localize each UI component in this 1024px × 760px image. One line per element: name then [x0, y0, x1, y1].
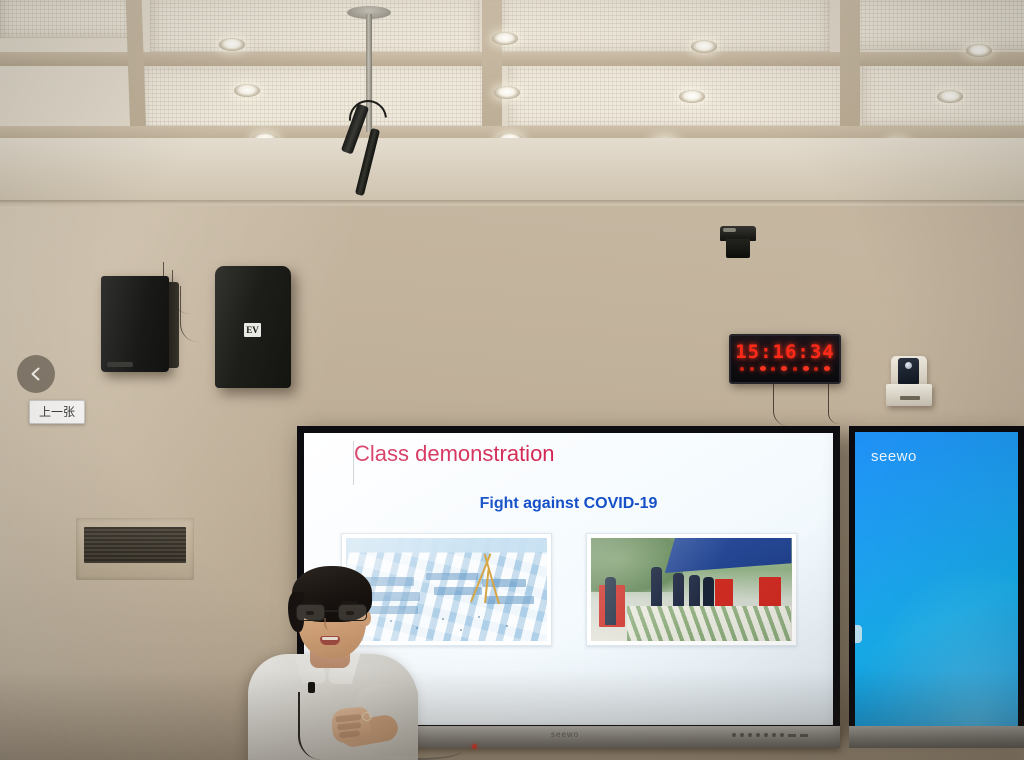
seewo-logo: seewo: [871, 448, 917, 465]
presenter-eye: [306, 611, 314, 615]
ceiling-panel: [500, 0, 830, 52]
ceiling-downlight: [691, 40, 717, 53]
clock-dot: [760, 366, 766, 371]
prev-image-button[interactable]: [17, 355, 55, 393]
chevron-left-icon: [28, 366, 44, 382]
clock-dot: [781, 366, 787, 371]
photo-officials-market: [586, 533, 797, 646]
bezel-port[interactable]: [772, 733, 776, 737]
ceiling-downlight: [937, 90, 963, 103]
ptz-camera-base: [886, 384, 932, 406]
ceiling-downlight: [492, 32, 518, 45]
prev-image-tooltip: 上一张: [29, 400, 85, 424]
clock-dot: [803, 366, 809, 371]
ceiling-panel: [150, 0, 480, 56]
bezel-control-ports[interactable]: [732, 733, 808, 737]
bezel-port[interactable]: [740, 733, 744, 737]
bezel-port[interactable]: [748, 733, 752, 737]
bezel-port[interactable]: [756, 733, 760, 737]
ceiling-downlight: [494, 86, 520, 99]
wall-camera-lens: [726, 239, 750, 258]
led-wall-clock: 15:16:34: [729, 334, 841, 384]
left-speaker: [101, 276, 169, 372]
right-speaker: EV: [215, 266, 291, 388]
side-display-sheen: [855, 564, 1018, 726]
bezel-port[interactable]: [764, 733, 768, 737]
bezel-slot[interactable]: [788, 734, 796, 737]
side-display-screen: seewo: [855, 432, 1018, 726]
ceiling-downlight: [234, 84, 260, 97]
clock-dot: [750, 367, 754, 371]
ceiling-soffit: [0, 138, 1024, 216]
wall-air-vent-frame: [76, 518, 194, 580]
bezel-port[interactable]: [732, 733, 736, 737]
side-display[interactable]: seewo: [849, 426, 1024, 732]
soffit-shadow-line: [0, 200, 1024, 204]
clock-time-display: 15:16:34: [731, 341, 839, 363]
clock-dot: [824, 366, 830, 371]
ptz-camera-slot: [900, 396, 920, 400]
ceiling-panel: [508, 62, 848, 130]
ceiling-downlight: [219, 38, 245, 51]
slide-title: Class demonstration: [354, 441, 555, 467]
presenter: [236, 560, 441, 760]
clock-dot: [814, 367, 818, 371]
panel-handle[interactable]: [855, 625, 862, 643]
presenter-nose: [324, 618, 336, 630]
presenter-mouth: [320, 636, 340, 645]
side-display-bottom-bezel: [849, 726, 1024, 748]
screenshot-root: EV 15:16:34 Class demonstration Fight a: [0, 0, 1024, 760]
clock-indicator-row: [740, 366, 830, 371]
ceiling-beam: [125, 0, 146, 140]
wall-air-vent-grille: [84, 527, 186, 563]
ceiling-beam: [840, 0, 860, 134]
bezel-slot[interactable]: [800, 734, 808, 737]
ceiling-panel: [0, 0, 140, 38]
clock-dot: [793, 367, 797, 371]
ev-logo-badge: EV: [244, 323, 261, 337]
speaker-cable: [180, 286, 201, 342]
lavalier-microphone-cable: [298, 692, 322, 760]
main-display-brand: seewo: [551, 730, 579, 739]
ceiling-panel: [845, 0, 1024, 50]
clock-cable: [773, 380, 788, 426]
clock-cable: [828, 380, 839, 424]
power-indicator-led: [472, 744, 477, 749]
ceiling-panel: [140, 64, 490, 134]
ceiling-downlight: [966, 44, 992, 57]
presenter-ring: [362, 712, 372, 721]
glasses-bridge: [325, 610, 338, 612]
bezel-port[interactable]: [780, 733, 784, 737]
wall-camera-highlight: [723, 228, 736, 232]
slide-subtitle: Fight against COVID-19: [304, 495, 833, 513]
ptz-camera-lens: [905, 362, 912, 369]
presenter-eye: [346, 611, 354, 615]
ceiling-downlight: [679, 90, 705, 103]
clock-dot: [740, 367, 744, 371]
ceiling-beam: [482, 0, 502, 140]
ceiling-beam: [0, 52, 1024, 66]
clock-dot: [771, 367, 775, 371]
